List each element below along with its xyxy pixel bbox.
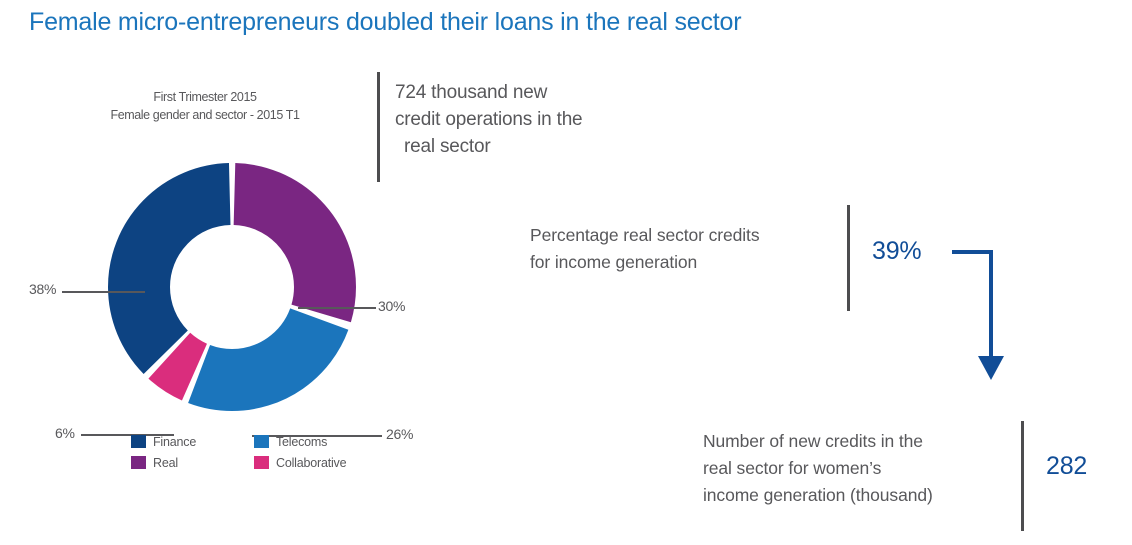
callout-percentage-real-sector: Percentage real sector credits for incom… bbox=[530, 222, 830, 276]
legend-item-finance[interactable]: Finance bbox=[131, 435, 254, 449]
callout-percentage-real-sector-value: 39% bbox=[872, 237, 921, 266]
chart-caption: First Trimester 2015 Female gender and s… bbox=[60, 88, 350, 124]
leader-line-finance bbox=[62, 291, 145, 293]
chart-legend: Finance Telecoms Real Collaborative bbox=[131, 431, 381, 473]
callout-credit-operations-line-3: real sector bbox=[395, 133, 645, 160]
elbow-arrow-down-icon bbox=[950, 240, 1020, 385]
donut-chart bbox=[108, 163, 356, 411]
chart-caption-line-1: First Trimester 2015 bbox=[60, 88, 350, 106]
callout-new-credits-count-line-3: income generation (thousand) bbox=[703, 482, 1013, 509]
chart-caption-line-2: Female gender and sector - 2015 T1 bbox=[60, 106, 350, 124]
legend-item-telecoms[interactable]: Telecoms bbox=[254, 435, 377, 449]
legend-label-real: Real bbox=[153, 456, 178, 470]
callout-credit-operations: 724 thousand new credit operations in th… bbox=[395, 79, 645, 160]
divider-rule-top bbox=[377, 72, 380, 182]
callout-new-credits-count-line-1: Number of new credits in the bbox=[703, 428, 1013, 455]
pct-label-finance: 38% bbox=[29, 281, 56, 297]
page-title: Female micro-entrepreneurs doubled their… bbox=[29, 8, 741, 37]
donut-chart-svg bbox=[108, 163, 356, 411]
callout-credit-operations-line-1: 724 thousand new bbox=[395, 79, 645, 106]
pct-label-collaborative: 6% bbox=[55, 425, 75, 441]
legend-swatch-icon-finance bbox=[131, 435, 146, 448]
divider-rule-middle bbox=[847, 205, 850, 311]
pct-label-telecoms: 26% bbox=[386, 426, 413, 442]
callout-new-credits-count-line-2: real sector for women’s bbox=[703, 455, 1013, 482]
legend-swatch-icon-real bbox=[131, 456, 146, 469]
callout-new-credits-count-value: 282 bbox=[1046, 452, 1087, 481]
legend-label-collaborative: Collaborative bbox=[276, 456, 346, 470]
legend-item-real[interactable]: Real bbox=[131, 456, 254, 470]
legend-label-telecoms: Telecoms bbox=[276, 435, 327, 449]
leader-line-real bbox=[298, 307, 376, 309]
callout-percentage-real-sector-line-1: Percentage real sector credits bbox=[530, 222, 830, 249]
legend-swatch-icon-collaborative bbox=[254, 456, 269, 469]
donut-chart-block: First Trimester 2015 Female gender and s… bbox=[0, 60, 380, 490]
legend-swatch-icon-telecoms bbox=[254, 435, 269, 448]
callout-new-credits-count: Number of new credits in the real sector… bbox=[703, 428, 1013, 509]
pct-label-real: 30% bbox=[378, 298, 405, 314]
legend-item-collaborative[interactable]: Collaborative bbox=[254, 456, 377, 470]
callout-percentage-real-sector-line-2: for income generation bbox=[530, 249, 830, 276]
callout-credit-operations-line-2: credit operations in the bbox=[395, 106, 645, 133]
divider-rule-bottom bbox=[1021, 421, 1024, 531]
legend-label-finance: Finance bbox=[153, 435, 196, 449]
